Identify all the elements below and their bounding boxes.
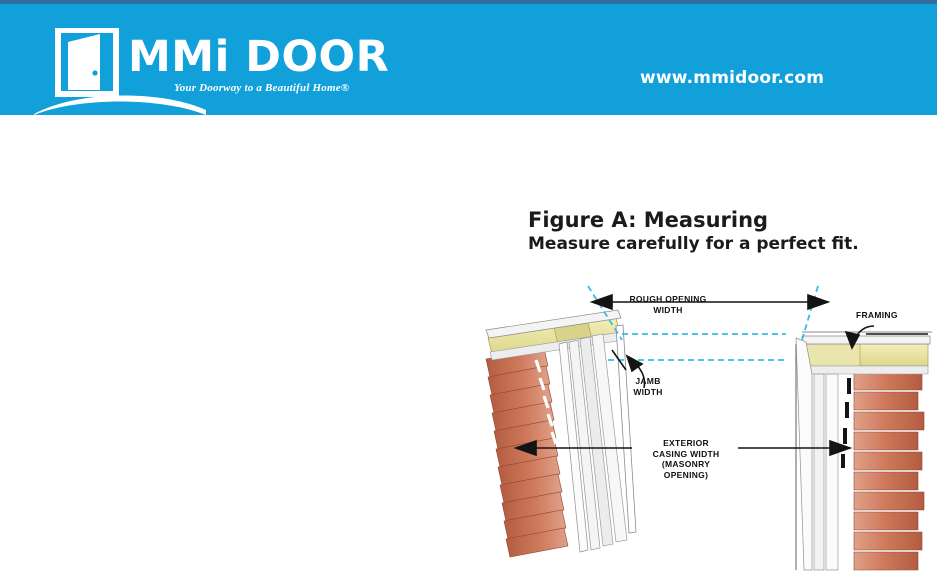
casing-line-1: EXTERIOR (663, 438, 709, 448)
brand-tagline: Your Doorway to a Beautiful Home® (174, 82, 349, 94)
jamb-width-line-1: JAMB (635, 376, 660, 386)
figure-title: Figure A: Measuring (528, 208, 928, 233)
label-rough-opening-width: ROUGH OPENING WIDTH (608, 294, 728, 315)
site-header: MMi DOOR Your Doorway to a Beautiful Hom… (0, 4, 937, 115)
jamb-width-line-2: WIDTH (633, 387, 662, 397)
label-jamb-width: JAMB WIDTH (618, 376, 678, 397)
right-wall-assembly (796, 332, 932, 570)
brand-logo[interactable]: MMi DOOR Your Doorway to a Beautiful Hom… (46, 26, 366, 114)
rough-opening-line-1: ROUGH OPENING (629, 294, 706, 304)
casing-line-3: (MASONRY (662, 459, 710, 469)
figure-a-measuring: Figure A: Measuring Measure carefully fo… (450, 196, 937, 576)
brand-wordmark: MMi DOOR (128, 32, 389, 82)
rough-opening-line-2: WIDTH (653, 305, 682, 315)
casing-line-4: OPENING) (664, 470, 708, 480)
site-url-text[interactable]: www.mmidoor.com (640, 68, 824, 88)
label-framing: FRAMING (856, 310, 916, 321)
measuring-diagram: ROUGH OPENING WIDTH FRAMING JAMB WIDTH E… (466, 282, 937, 576)
figure-heading: Figure A: Measuring Measure carefully fo… (528, 208, 928, 256)
diagram-illustration (466, 282, 937, 576)
label-exterior-casing-width: EXTERIOR CASING WIDTH (MASONRY OPENING) (636, 438, 736, 480)
casing-line-2: CASING WIDTH (653, 449, 720, 459)
left-wall-assembly (486, 310, 636, 557)
figure-subtitle: Measure carefully for a perfect fit. (528, 233, 928, 256)
